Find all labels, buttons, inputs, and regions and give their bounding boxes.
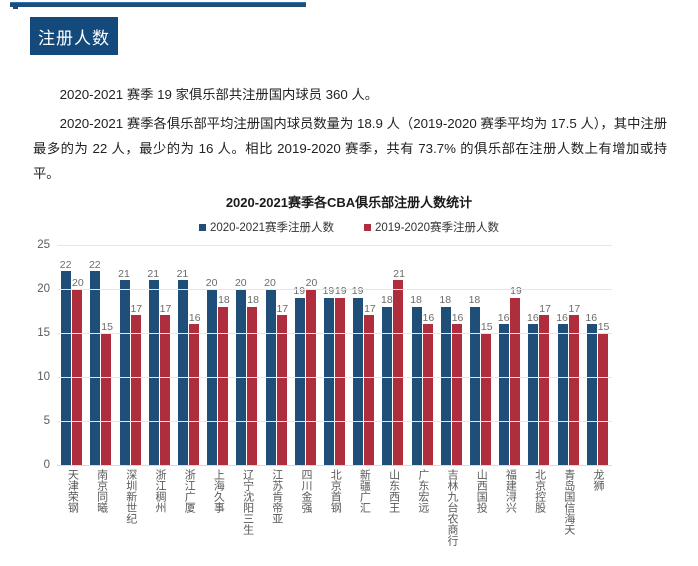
x-axis-label-text: 福建浔兴 <box>504 469 516 546</box>
bar-series-2[interactable]: 18 <box>247 307 257 465</box>
x-axis-label: 北京首钢 <box>320 469 349 546</box>
bar-group: 1615 <box>583 245 612 465</box>
bar-series-1[interactable]: 16 <box>499 324 509 465</box>
x-axis-label-text: 浙江广厦 <box>183 469 195 546</box>
x-axis-label: 山东西王 <box>378 469 407 546</box>
x-axis-label: 广东宏远 <box>407 469 436 546</box>
bar-group: 2017 <box>261 245 290 465</box>
x-axis-label: 福建浔兴 <box>495 469 524 546</box>
x-axis-label-text: 南京同曦 <box>95 469 107 546</box>
y-axis-tick-25: 25 <box>24 239 50 251</box>
bar-group: 1920 <box>291 245 320 465</box>
bar-series-1[interactable]: 22 <box>61 271 71 465</box>
x-axis-label: 辽宁沈阳三生 <box>232 469 261 546</box>
bar-value-label: 17 <box>160 304 172 315</box>
x-axis-label-text: 北京首钢 <box>329 469 341 546</box>
x-axis-label: 青岛国信海天 <box>553 469 582 546</box>
y-axis-tick-10: 10 <box>24 371 50 383</box>
gridline-25 <box>57 245 612 246</box>
chart-title: 2020-2021赛季各CBA俱乐部注册人数统计 <box>0 192 698 211</box>
bar-series-1[interactable]: 18 <box>470 307 480 465</box>
bar-value-label: 16 <box>527 313 539 324</box>
legend-item-series-2[interactable]: 2019-2020赛季注册人数 <box>364 219 499 235</box>
bar-series-2[interactable]: 19 <box>335 298 345 465</box>
bar-series-2[interactable]: 15 <box>598 333 608 465</box>
paragraph-1: 2020-2021 赛季 19 家俱乐部共注册国内球员 360 人。 <box>33 82 667 107</box>
x-axis-label: 北京控股 <box>524 469 553 546</box>
bar-value-label: 21 <box>118 269 130 280</box>
bar-value-label: 19 <box>510 286 522 297</box>
x-axis-label-text: 辽宁沈阳三生 <box>241 469 253 546</box>
bar-value-label: 19 <box>352 286 364 297</box>
bar-value-label: 20 <box>206 278 218 289</box>
x-axis-label-text: 山东西王 <box>387 469 399 546</box>
bar-value-label: 21 <box>147 269 159 280</box>
bar-series-2[interactable]: 15 <box>481 333 491 465</box>
x-axis-label: 南京同曦 <box>86 469 115 546</box>
y-axis-tick-20: 20 <box>24 283 50 295</box>
y-axis-tick-15: 15 <box>24 327 50 339</box>
bar-series-2[interactable]: 16 <box>423 324 433 465</box>
bar-series-2[interactable]: 16 <box>189 324 199 465</box>
x-axis-label: 山西国投 <box>466 469 495 546</box>
bar-value-label: 20 <box>264 278 276 289</box>
x-axis-label-text: 广东宏远 <box>416 469 428 546</box>
x-axis-label-text: 上海久事 <box>212 469 224 546</box>
bar-group: 1917 <box>349 245 378 465</box>
bar-value-label: 21 <box>393 269 405 280</box>
bar-value-label: 18 <box>218 295 230 306</box>
bar-series-1[interactable]: 19 <box>353 298 363 465</box>
bar-series-2[interactable]: 21 <box>393 280 403 465</box>
bar-group: 1816 <box>437 245 466 465</box>
bar-value-label: 18 <box>410 295 422 306</box>
bar-value-label: 18 <box>439 295 451 306</box>
x-axis-label-text: 龙狮 <box>591 469 603 546</box>
bar-group: 1617 <box>524 245 553 465</box>
plot-wrapper: 0510152025 22202215211721172116201820182… <box>0 245 698 477</box>
bar-value-label: 17 <box>569 304 581 315</box>
section-badge: 注册人数 <box>30 17 118 55</box>
bar-group: 2116 <box>174 245 203 465</box>
bar-series-1[interactable]: 19 <box>324 298 334 465</box>
bar-group: 1815 <box>466 245 495 465</box>
bar-value-label: 16 <box>585 313 597 324</box>
x-axis-label: 深圳新世纪 <box>115 469 144 546</box>
bar-series-1[interactable]: 18 <box>441 307 451 465</box>
paragraph-2: 2020-2021 赛季各俱乐部平均注册国内球员数量为 18.9 人（2019-… <box>33 111 667 186</box>
bar-series-1[interactable]: 16 <box>587 324 597 465</box>
bar-series-2[interactable]: 19 <box>510 298 520 465</box>
bar-group: 1821 <box>378 245 407 465</box>
y-axis: 0510152025 <box>28 245 54 465</box>
x-axis-label-text: 北京控股 <box>533 469 545 546</box>
gridline-20 <box>57 289 612 290</box>
x-axis-label: 吉林九台农商行 <box>437 469 466 546</box>
x-axis-label: 江苏肯帝亚 <box>261 469 290 546</box>
plot-area: 2220221521172117211620182018201719201919… <box>57 245 612 466</box>
bar-value-label: 18 <box>381 295 393 306</box>
gridline-5 <box>57 421 612 422</box>
bar-series-2[interactable]: 17 <box>539 315 549 465</box>
bar-series-2[interactable]: 17 <box>364 315 374 465</box>
bar-value-label: 19 <box>335 286 347 297</box>
bar-value-label: 17 <box>539 304 551 315</box>
x-axis-label: 浙江稠州 <box>145 469 174 546</box>
y-axis-tick-0: 0 <box>24 459 50 471</box>
bar-series-2[interactable]: 17 <box>569 315 579 465</box>
bar-value-label: 18 <box>247 295 259 306</box>
x-axis-label-text: 山西国投 <box>475 469 487 546</box>
x-axis-label-text: 四川金强 <box>299 469 311 546</box>
bar-value-label: 22 <box>60 260 72 271</box>
bar-value-label: 20 <box>306 278 318 289</box>
bar-series-1[interactable]: 19 <box>295 298 305 465</box>
bar-series-1[interactable]: 18 <box>412 307 422 465</box>
bar-series-1[interactable]: 21 <box>120 280 130 465</box>
legend-swatch-series-1 <box>199 224 206 231</box>
bar-group: 1617 <box>553 245 582 465</box>
gridline-15 <box>57 333 612 334</box>
x-axis-label: 天津荣钢 <box>57 469 86 546</box>
x-axis-label-text: 浙江稠州 <box>153 469 165 546</box>
legend-label-series-2: 2019-2020赛季注册人数 <box>375 219 499 235</box>
chart-legend: 2020-2021赛季注册人数 2019-2020赛季注册人数 <box>0 219 698 235</box>
bar-series-2[interactable]: 15 <box>101 333 111 465</box>
x-axis-label: 四川金强 <box>291 469 320 546</box>
x-axis-label-text: 江苏肯帝亚 <box>270 469 282 546</box>
bar-series-1[interactable]: 16 <box>558 324 568 465</box>
x-axis-label-text: 新疆广汇 <box>358 469 370 546</box>
bar-group: 2117 <box>115 245 144 465</box>
bar-series-2[interactable]: 17 <box>160 315 170 465</box>
bar-value-label: 16 <box>422 313 434 324</box>
bar-value-label: 16 <box>452 313 464 324</box>
y-axis-tick-5: 5 <box>24 415 50 427</box>
x-axis-label: 上海久事 <box>203 469 232 546</box>
x-axis-labels: 天津荣钢南京同曦深圳新世纪浙江稠州浙江广厦上海久事辽宁沈阳三生江苏肯帝亚四川金强… <box>57 469 612 546</box>
legend-swatch-series-2 <box>364 224 371 231</box>
bar-group: 2018 <box>232 245 261 465</box>
bar-series-2[interactable]: 16 <box>452 324 462 465</box>
bar-group: 1619 <box>495 245 524 465</box>
bar-value-label: 19 <box>323 286 335 297</box>
legend-item-series-1[interactable]: 2020-2021赛季注册人数 <box>199 219 334 235</box>
bar-group: 2220 <box>57 245 86 465</box>
bar-value-label: 20 <box>72 278 84 289</box>
bar-value-label: 16 <box>556 313 568 324</box>
bar-group: 2117 <box>145 245 174 465</box>
bar-value-label: 17 <box>130 304 142 315</box>
bar-series-2[interactable]: 18 <box>218 307 228 465</box>
x-axis-label-text: 吉林九台农商行 <box>445 469 457 546</box>
x-axis-label: 浙江广厦 <box>174 469 203 546</box>
bar-series-2[interactable]: 17 <box>277 315 287 465</box>
bar-groups: 2220221521172117211620182018201719201919… <box>57 245 612 465</box>
bar-value-label: 19 <box>293 286 305 297</box>
bar-value-label: 15 <box>101 322 113 333</box>
x-axis-label: 新疆广汇 <box>349 469 378 546</box>
bullet-marker-icon <box>13 4 18 9</box>
bar-series-1[interactable]: 16 <box>528 324 538 465</box>
bar-value-label: 18 <box>469 295 481 306</box>
registration-bar-chart: 2020-2021赛季各CBA俱乐部注册人数统计 2020-2021赛季注册人数… <box>0 190 698 566</box>
article-body: 2020-2021 赛季 19 家俱乐部共注册国内球员 360 人。 2020-… <box>33 82 667 190</box>
bar-group: 1816 <box>407 245 436 465</box>
x-axis-label-text: 深圳新世纪 <box>124 469 136 546</box>
x-axis-label-text: 天津荣钢 <box>66 469 78 546</box>
bar-value-label: 22 <box>89 260 101 271</box>
bar-series-1[interactable]: 22 <box>90 271 100 465</box>
legend-label-series-1: 2020-2021赛季注册人数 <box>210 219 334 235</box>
gridline-10 <box>57 377 612 378</box>
section-badge-label: 注册人数 <box>38 24 110 49</box>
bar-value-label: 21 <box>177 269 189 280</box>
bar-value-label: 15 <box>481 322 493 333</box>
bar-group: 1919 <box>320 245 349 465</box>
bar-series-1[interactable]: 21 <box>149 280 159 465</box>
bar-value-label: 17 <box>276 304 288 315</box>
x-axis-label: 龙狮 <box>583 469 612 546</box>
bar-value-label: 16 <box>498 313 510 324</box>
bar-group: 2215 <box>86 245 115 465</box>
bar-series-1[interactable]: 21 <box>178 280 188 465</box>
bar-series-2[interactable]: 17 <box>131 315 141 465</box>
bar-value-label: 17 <box>364 304 376 315</box>
bar-value-label: 15 <box>598 322 610 333</box>
bar-series-1[interactable]: 18 <box>382 307 392 465</box>
x-axis-label-text: 青岛国信海天 <box>562 469 574 546</box>
bar-value-label: 20 <box>235 278 247 289</box>
top-divider-rule <box>10 2 306 7</box>
bar-value-label: 16 <box>189 313 201 324</box>
bar-group: 2018 <box>203 245 232 465</box>
